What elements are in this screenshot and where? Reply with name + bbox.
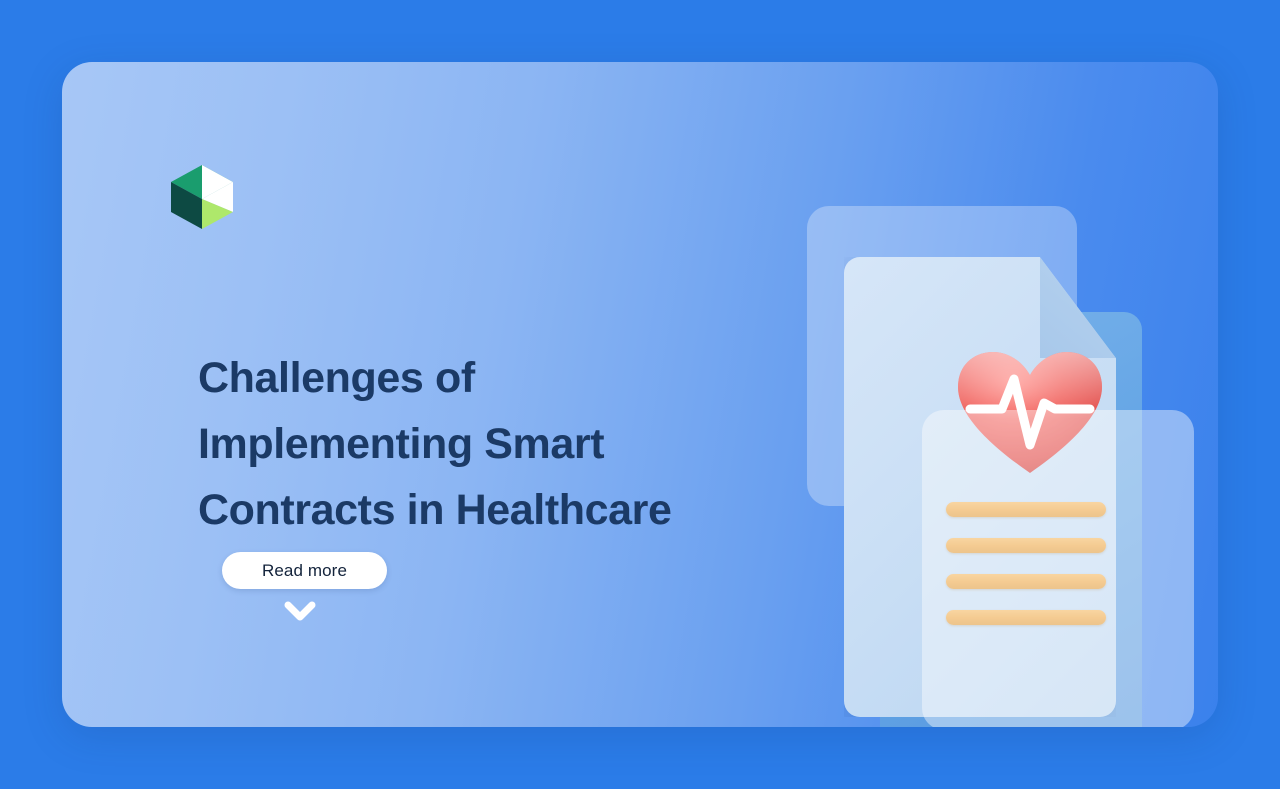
headline-line-2: Implementing Smart bbox=[198, 411, 798, 477]
page-title: Challenges of Implementing Smart Contrac… bbox=[198, 345, 798, 543]
medical-document-illustration bbox=[762, 182, 1218, 727]
headline-line-3: Contracts in Healthcare bbox=[198, 477, 798, 543]
read-more-button[interactable]: Read more bbox=[222, 552, 387, 589]
glass-plate-front-right bbox=[922, 410, 1194, 727]
chevron-down-icon[interactable] bbox=[282, 596, 318, 626]
headline-line-1: Challenges of bbox=[198, 345, 798, 411]
cube-hexagon-logo[interactable] bbox=[167, 162, 237, 232]
document-folded-corner bbox=[1040, 257, 1116, 358]
blog-promo-banner: Challenges of Implementing Smart Contrac… bbox=[62, 62, 1218, 727]
